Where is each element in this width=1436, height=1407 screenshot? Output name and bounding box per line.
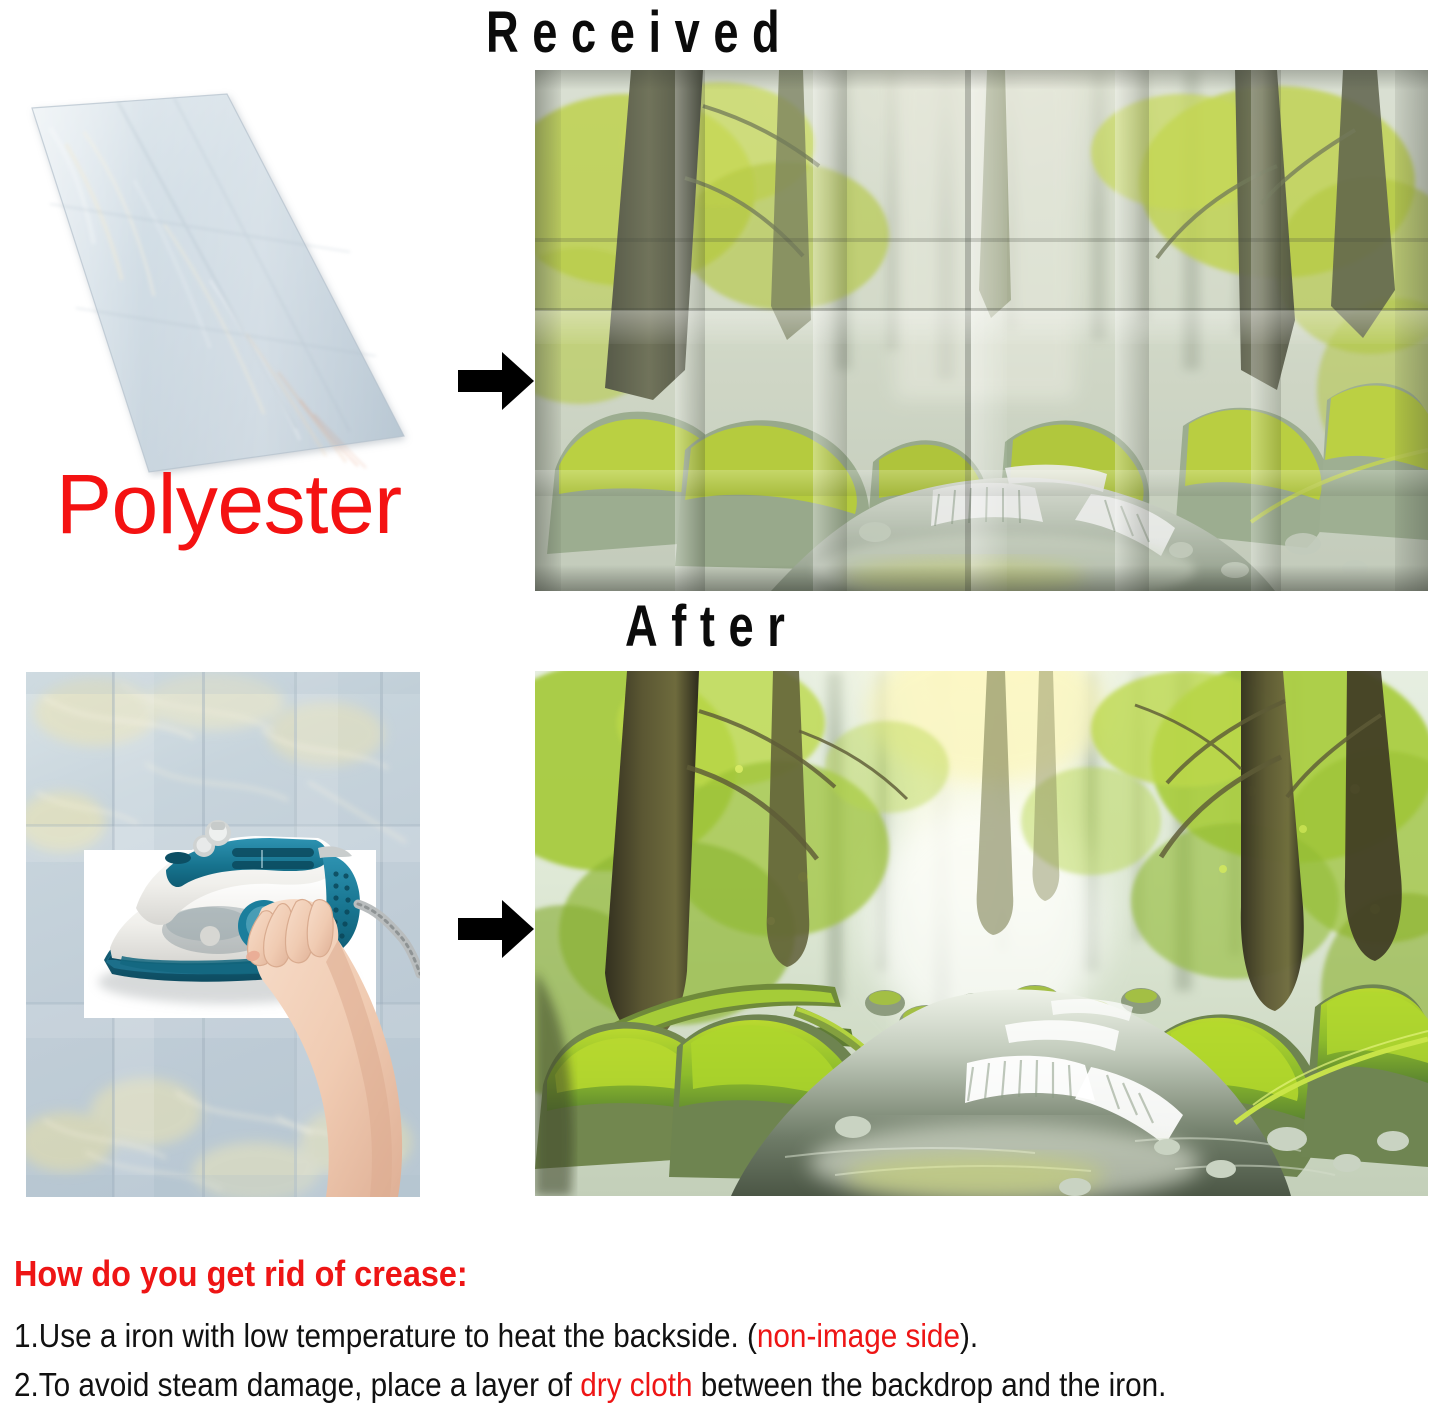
- care-step-1-highlight: non-image side: [757, 1317, 960, 1354]
- care-step-2: 2.To avoid steam damage, place a layer o…: [14, 1364, 1283, 1407]
- polyester-label: Polyester: [56, 462, 402, 546]
- right-arrow-icon-2: [458, 900, 534, 963]
- folded-fabric-image: [14, 84, 424, 480]
- care-step-1-before: Use a iron with low temperature to heat …: [39, 1317, 757, 1354]
- care-step-1: 1.Use a iron with low temperature to hea…: [14, 1315, 1283, 1358]
- folded-fabric-illustration: [14, 84, 424, 480]
- after-heading: After: [625, 598, 798, 656]
- forest-scene-smooth: [535, 671, 1428, 1196]
- after-backdrop-image: [535, 671, 1428, 1196]
- right-arrow-icon: [458, 352, 534, 415]
- right-arrow-glyph: [458, 352, 534, 410]
- care-title: How do you get rid of crease:: [14, 1253, 1283, 1295]
- care-step-2-before: To avoid steam damage, place a layer of: [39, 1366, 581, 1403]
- care-step-2-after: between the backdrop and the iron.: [693, 1366, 1167, 1403]
- care-instructions-block: How do you get rid of crease: 1.Use a ir…: [14, 1253, 1424, 1407]
- care-step-1-after: ).: [960, 1317, 978, 1354]
- iron-inset-illustration: [26, 672, 420, 1197]
- care-step-2-highlight: dry cloth: [580, 1366, 692, 1403]
- received-heading: Received: [486, 4, 793, 62]
- ironing-demo-image: [26, 672, 420, 1197]
- received-backdrop-image: [535, 70, 1428, 591]
- infographic-canvas: Received: [0, 0, 1436, 1402]
- right-arrow-glyph-2: [458, 900, 534, 958]
- care-step-1-number: 1.: [14, 1317, 39, 1354]
- care-step-2-number: 2.: [14, 1366, 39, 1403]
- forest-scene-creased: [535, 70, 1428, 591]
